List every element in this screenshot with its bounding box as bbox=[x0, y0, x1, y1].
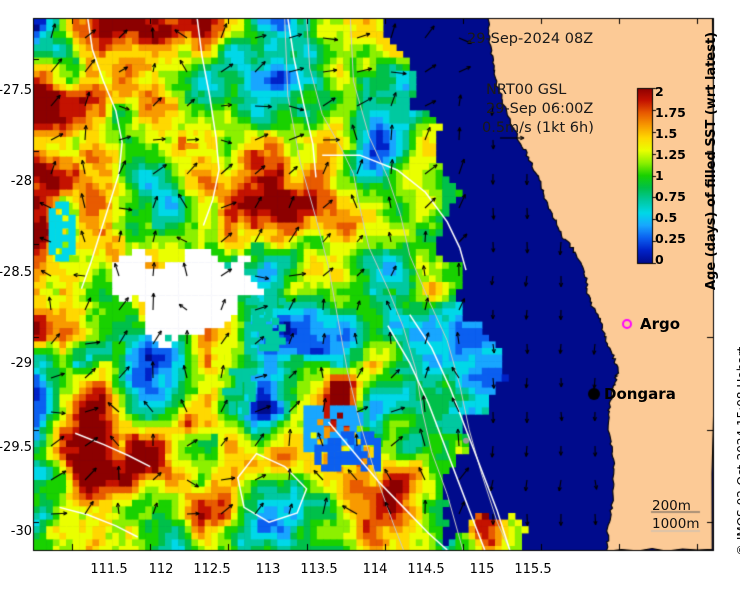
x-tick-label: 112.5 bbox=[182, 562, 242, 577]
x-tick-label: 111.5 bbox=[79, 562, 139, 577]
colorbar-tick-label: 1.5 bbox=[655, 126, 677, 141]
depth-contour-label-200m: 200m bbox=[652, 498, 691, 514]
x-tick-label: 114.5 bbox=[396, 562, 456, 577]
y-tick-label: -27.5 bbox=[0, 83, 32, 98]
sst-age-map-figure bbox=[0, 0, 740, 592]
current-product-label: NRT00 GSL bbox=[486, 82, 566, 98]
y-tick-label: -28 bbox=[0, 174, 32, 189]
y-tick-label: -28.5 bbox=[0, 265, 32, 280]
x-tick-label: 115.5 bbox=[503, 562, 563, 577]
marker-label-dongara: Dongara bbox=[604, 385, 676, 403]
y-tick-label: -30 bbox=[0, 524, 32, 539]
current-valid-time: 29-Sep 06:00Z bbox=[486, 101, 593, 117]
y-tick-label: -29.5 bbox=[0, 440, 32, 455]
x-tick-label: 113.5 bbox=[289, 562, 349, 577]
colorbar-tick-label: 0.5 bbox=[655, 210, 677, 225]
colorbar-tick-label: 1 bbox=[655, 168, 664, 183]
y-tick-label: -29 bbox=[0, 356, 32, 371]
figure-timestamp: 29-Sep-2024 08Z bbox=[467, 31, 593, 47]
colorbar-tick-label: 1.75 bbox=[655, 105, 686, 120]
colorbar-tick-label: 0.75 bbox=[655, 189, 686, 204]
credit-text: © IMOS 02-Oct-2024 15:08 Hobart bbox=[735, 347, 740, 556]
colorbar-tick-label: 2 bbox=[655, 84, 664, 99]
depth-contour-label-1000m: 1000m bbox=[652, 516, 700, 532]
marker-label-argo: Argo bbox=[640, 315, 680, 333]
colorbar-tick-label: 0.25 bbox=[655, 231, 686, 246]
colorbar-tick-label: 1.25 bbox=[655, 147, 686, 162]
colorbar-tick-label: 0 bbox=[655, 252, 664, 267]
colorbar-title: Age (days) of filled SST (wrt latest) bbox=[704, 32, 719, 290]
current-scale-legend: 0.5m/s (1kt 6h) bbox=[482, 120, 594, 136]
